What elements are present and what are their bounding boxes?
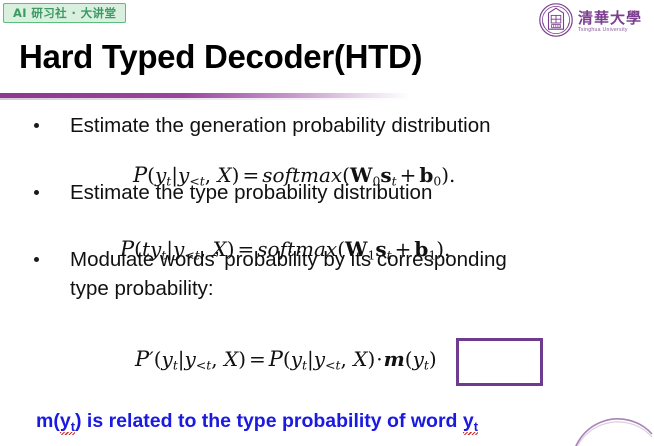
modulation-highlight-box [456,338,543,386]
bullet-dot-icon [34,257,39,262]
formula-1-P: P [133,163,147,187]
takeaway-var-1-base: y [60,410,71,432]
formula-modulated-probability: P′(yt|y<t, X)=P(yt|y<t, X)·m(yt) [135,348,437,370]
formula-type-probability: P(tyt|y<t, X)=softmax(W1st+b1). [120,238,450,260]
takeaway-var-1-sub: t [71,419,75,434]
bullet-item-3-continued: type probability: [0,275,654,302]
formula-generation-probability: P(yt|y<t, X)=softmax(W0st+b0). [133,164,455,186]
brand-watermark-badge: AI 研习社 · 大讲堂 [3,3,126,23]
takeaway-var-2: yt [463,410,478,432]
slide-canvas: AI 研习社 · 大讲堂 清華大學 Tsinghua Unive [0,0,654,446]
formula-2-P: P [120,237,134,261]
bullet-dot-icon [34,123,39,128]
bullet-label-4: type probability: [70,277,214,300]
university-wordmark: 清華大學 Tsinghua University [578,11,642,33]
brand-watermark-label: AI 研习社 · 大讲堂 [13,5,116,21]
takeaway-prefix: m( [36,410,60,432]
takeaway-var-1: yt [60,410,75,432]
slide-title: Hard Typed Decoder(HTD) [19,38,422,76]
university-name-en: Tsinghua University [578,28,642,33]
formula-3-modulation-term: ·m(yt) [375,347,436,371]
takeaway-statement: m(yt) is related to the type probability… [36,410,478,433]
tsinghua-seal-icon [538,2,574,43]
corner-arc-decoration [570,418,654,446]
bullet-dot-icon [34,190,39,195]
bullet-label-1: Estimate the generation probability dist… [70,114,491,137]
formula-3-P-prime: P [135,347,149,371]
university-name-cn: 清華大學 [578,11,642,26]
slide-body: Estimate the generation probability dist… [0,112,654,304]
takeaway-var-2-base: y [463,410,474,432]
takeaway-var-2-sub: t [474,419,478,434]
bullet-item-1: Estimate the generation probability dist… [0,112,654,139]
takeaway-middle: ) is related to the type probability of … [75,410,463,432]
title-divider-shadow [0,98,410,100]
university-logo: 清華大學 Tsinghua University [538,2,648,42]
